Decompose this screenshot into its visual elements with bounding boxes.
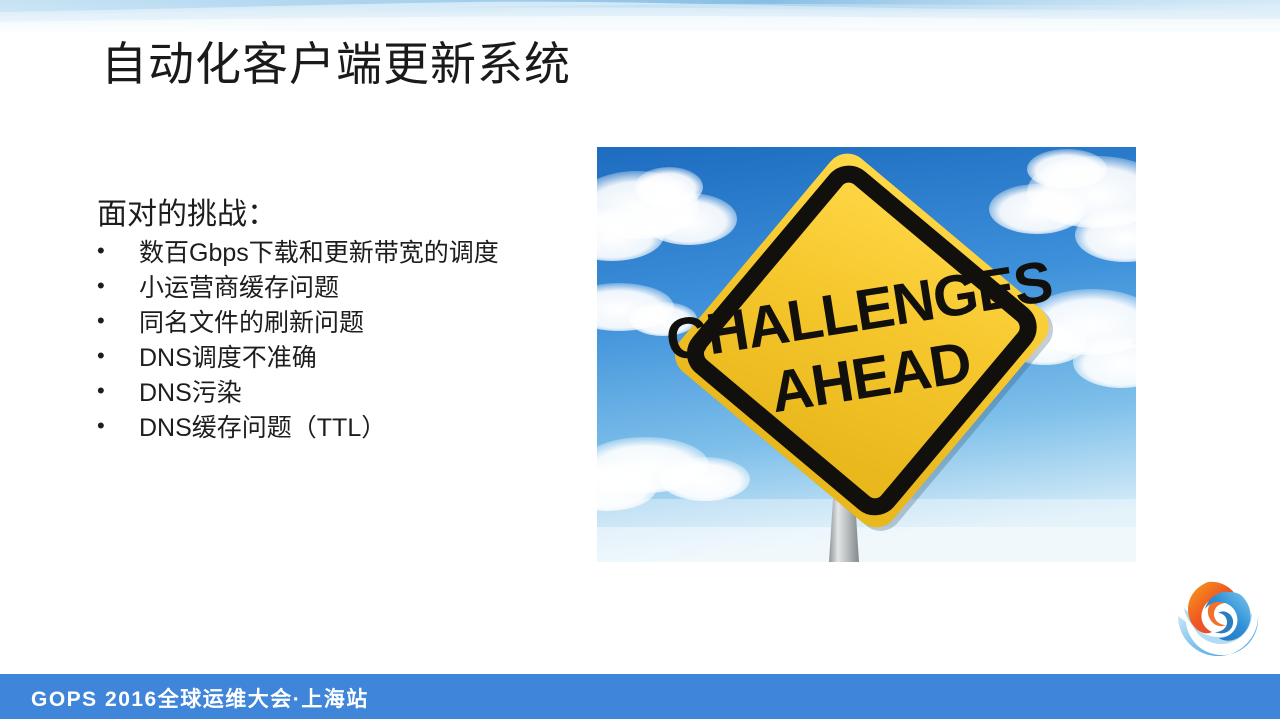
footer-event-title: GOPS 2016全球运维大会·上海站 <box>31 683 369 713</box>
footer-bar: GOPS 2016全球运维大会·上海站 <box>0 674 1280 719</box>
list-item: • DNS缓存问题（TTL） <box>97 411 567 446</box>
list-item: • 同名文件的刷新问题 <box>97 306 567 341</box>
list-item: • DNS调度不准确 <box>97 341 567 376</box>
challenges-bullet-list: • 数百Gbps下载和更新带宽的调度 • 小运营商缓存问题 • 同名文件的刷新问… <box>97 236 567 446</box>
presentation-slide: 自动化客户端更新系统 面对的挑战： • 数百Gbps下载和更新带宽的调度 • 小… <box>0 0 1280 719</box>
challenges-text-block: 面对的挑战： • 数百Gbps下载和更新带宽的调度 • 小运营商缓存问题 • 同… <box>97 196 567 446</box>
body-heading: 面对的挑战： <box>97 196 567 234</box>
list-item: • 小运营商缓存问题 <box>97 271 567 306</box>
bullet-marker-icon: • <box>97 271 139 302</box>
list-item-label: DNS缓存问题（TTL） <box>139 411 386 446</box>
bullet-marker-icon: • <box>97 236 139 267</box>
bullet-marker-icon: • <box>97 341 139 372</box>
page-title: 自动化客户端更新系统 <box>101 36 571 94</box>
list-item-label: DNS污染 <box>139 376 242 411</box>
list-item-label: 数百Gbps下载和更新带宽的调度 <box>139 236 499 271</box>
list-item-label: DNS调度不准确 <box>139 341 317 376</box>
list-item-label: 小运营商缓存问题 <box>139 271 339 306</box>
bullet-marker-icon: • <box>97 411 139 442</box>
list-item-label: 同名文件的刷新问题 <box>139 306 364 341</box>
top-decorative-banner <box>0 0 1280 34</box>
bullet-marker-icon: • <box>97 306 139 337</box>
bullet-marker-icon: • <box>97 376 139 407</box>
challenges-ahead-image: CHALLENGES AHEAD <box>597 147 1136 562</box>
gops-swirl-logo-icon <box>1172 570 1264 662</box>
list-item: • 数百Gbps下载和更新带宽的调度 <box>97 236 567 271</box>
list-item: • DNS污染 <box>97 376 567 411</box>
